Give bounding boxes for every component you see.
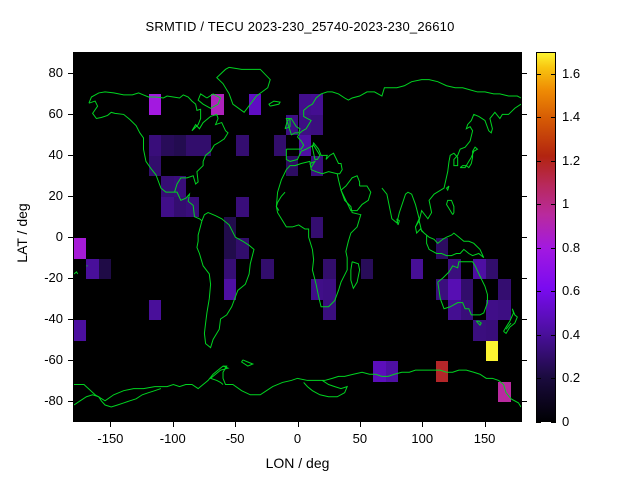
x-axis-tick-top xyxy=(422,52,423,57)
y-axis-tick-right xyxy=(522,278,527,279)
x-axis-tick xyxy=(235,422,236,427)
x-axis-tick-label: 150 xyxy=(455,431,515,446)
heatmap-cell xyxy=(486,341,498,362)
colorbar-tick-label: 0.8 xyxy=(562,240,580,255)
y-axis-tick-right xyxy=(522,196,527,197)
y-axis-tick-right xyxy=(522,401,527,402)
y-axis-tick xyxy=(68,196,73,197)
colorbar-tick-right xyxy=(551,422,556,423)
x-axis-tick-label: -50 xyxy=(205,431,265,446)
heatmap-cell-layer xyxy=(74,53,521,421)
y-axis-tick-right xyxy=(522,237,527,238)
x-axis-tick-label: 100 xyxy=(392,431,452,446)
colorbar-tick xyxy=(536,204,541,205)
heatmap-cell xyxy=(386,361,398,382)
x-axis-tick xyxy=(110,422,111,427)
heatmap-cell xyxy=(161,197,173,218)
y-axis-tick xyxy=(68,278,73,279)
heatmap-cell xyxy=(99,259,111,280)
heatmap-cell xyxy=(224,259,236,280)
x-axis-tick xyxy=(298,422,299,427)
y-axis-tick xyxy=(68,73,73,74)
y-axis-tick-right xyxy=(522,360,527,361)
colorbar-tick-label: 1.6 xyxy=(562,66,580,81)
heatmap-cell xyxy=(299,115,311,136)
x-axis-tick-label: 50 xyxy=(330,431,390,446)
y-axis-tick-label: 60 xyxy=(17,106,63,121)
x-axis-tick xyxy=(173,422,174,427)
colorbar-tick xyxy=(536,117,541,118)
colorbar-tick xyxy=(536,74,541,75)
heatmap-cell xyxy=(236,197,248,218)
heatmap-cell xyxy=(224,279,236,300)
heatmap-cell xyxy=(161,135,173,156)
colorbar-tick-right xyxy=(551,204,556,205)
x-axis-tick xyxy=(485,422,486,427)
x-axis-tick-top xyxy=(360,52,361,57)
heatmap-cell xyxy=(448,300,460,321)
heatmap-cell xyxy=(436,238,448,259)
colorbar-tick-label: 0.2 xyxy=(562,370,580,385)
colorbar-tick-label: 1.4 xyxy=(562,109,580,124)
colorbar-tick-label: 0.4 xyxy=(562,327,580,342)
heatmap-cell xyxy=(211,94,223,115)
y-axis-tick-label: -60 xyxy=(17,352,63,367)
heatmap-cell xyxy=(436,361,448,382)
heatmap-cell xyxy=(186,197,198,218)
heatmap-cell xyxy=(199,135,211,156)
heatmap-cell xyxy=(486,259,498,280)
colorbar-tick-right xyxy=(551,291,556,292)
page-title: SRMTID / TECU 2023-230_25740-2023-230_26… xyxy=(0,19,600,34)
heatmap-cell xyxy=(224,217,236,238)
heatmap-cell xyxy=(373,361,385,382)
y-axis-tick xyxy=(68,360,73,361)
heatmap-cell xyxy=(323,259,335,280)
y-axis-tick-label: -80 xyxy=(17,393,63,408)
x-axis-tick-label: -150 xyxy=(80,431,140,446)
y-axis-tick xyxy=(68,155,73,156)
colorbar-tick xyxy=(536,422,541,423)
colorbar-tick-label: 0 xyxy=(562,414,569,429)
heatmap-cell xyxy=(149,94,161,115)
x-axis-tick xyxy=(422,422,423,427)
colorbar-tick-right xyxy=(551,335,556,336)
heatmap-cell xyxy=(174,135,186,156)
colorbar xyxy=(536,52,556,422)
colorbar-tick-right xyxy=(551,74,556,75)
heatmap-cell xyxy=(448,279,460,300)
heatmap-cell xyxy=(161,176,173,197)
y-axis-title: LAT / deg xyxy=(14,133,30,333)
y-axis-tick-right xyxy=(522,155,527,156)
heatmap-cell xyxy=(186,135,198,156)
colorbar-tick xyxy=(536,161,541,162)
map-plot-area xyxy=(73,52,522,422)
y-axis-tick xyxy=(68,319,73,320)
y-axis-tick-right xyxy=(522,114,527,115)
heatmap-cell xyxy=(286,115,298,136)
heatmap-cell xyxy=(498,382,510,403)
heatmap-cell xyxy=(236,238,248,259)
heatmap-cell xyxy=(498,279,510,300)
colorbar-tick-label: 0.6 xyxy=(562,283,580,298)
heatmap-cell xyxy=(311,217,323,238)
x-axis-tick-label: 0 xyxy=(268,431,328,446)
x-axis-tick-top xyxy=(110,52,111,57)
colorbar-tick-right xyxy=(551,161,556,162)
heatmap-cell xyxy=(473,259,485,280)
heatmap-cell xyxy=(361,259,373,280)
heatmap-cell xyxy=(498,300,510,321)
heatmap-cell xyxy=(486,320,498,341)
heatmap-cell xyxy=(461,300,473,321)
heatmap-cell xyxy=(486,300,498,321)
colorbar-tick xyxy=(536,248,541,249)
heatmap-cell xyxy=(411,259,423,280)
x-axis-tick xyxy=(360,422,361,427)
colorbar-tick-right xyxy=(551,117,556,118)
y-axis-tick-label: 80 xyxy=(17,65,63,80)
colorbar-tick xyxy=(536,291,541,292)
heatmap-cell xyxy=(74,320,86,341)
x-axis-tick-top xyxy=(298,52,299,57)
heatmap-cell xyxy=(74,238,86,259)
x-axis-title: LON / deg xyxy=(73,455,522,471)
heatmap-cell xyxy=(249,94,261,115)
x-axis-tick-top xyxy=(235,52,236,57)
colorbar-tick-label: 1.2 xyxy=(562,153,580,168)
heatmap-cell xyxy=(436,279,448,300)
colorbar-tick xyxy=(536,378,541,379)
colorbar-tick-right xyxy=(551,248,556,249)
y-axis-tick xyxy=(68,237,73,238)
heatmap-cell xyxy=(274,135,286,156)
x-axis-tick-top xyxy=(485,52,486,57)
chart-root: SRMTID / TECU 2023-230_25740-2023-230_26… xyxy=(0,0,640,480)
heatmap-cell xyxy=(323,300,335,321)
heatmap-cell xyxy=(149,156,161,177)
heatmap-cell xyxy=(299,94,311,115)
y-axis-tick-right xyxy=(522,319,527,320)
colorbar-tick xyxy=(536,335,541,336)
heatmap-cell xyxy=(473,320,485,341)
heatmap-cell xyxy=(311,156,323,177)
y-axis-tick xyxy=(68,114,73,115)
x-axis-tick-top xyxy=(173,52,174,57)
colorbar-tick-label: 1 xyxy=(562,196,569,211)
heatmap-cell xyxy=(224,238,236,259)
heatmap-cell xyxy=(286,156,298,177)
heatmap-cell xyxy=(461,279,473,300)
heatmap-cell xyxy=(236,135,248,156)
colorbar-gradient xyxy=(536,52,556,422)
heatmap-cell xyxy=(311,94,323,115)
y-axis-tick xyxy=(68,401,73,402)
heatmap-cell xyxy=(323,279,335,300)
heatmap-cell xyxy=(174,197,186,218)
heatmap-cell xyxy=(174,176,186,197)
heatmap-cell xyxy=(311,279,323,300)
heatmap-cell xyxy=(311,115,323,136)
heatmap-cell xyxy=(86,259,98,280)
heatmap-cell xyxy=(149,300,161,321)
heatmap-cell xyxy=(299,135,311,156)
colorbar-tick-right xyxy=(551,378,556,379)
x-axis-tick-label: -100 xyxy=(143,431,203,446)
heatmap-cell xyxy=(448,259,460,280)
heatmap-cell xyxy=(149,135,161,156)
heatmap-cell xyxy=(261,259,273,280)
y-axis-tick-right xyxy=(522,73,527,74)
